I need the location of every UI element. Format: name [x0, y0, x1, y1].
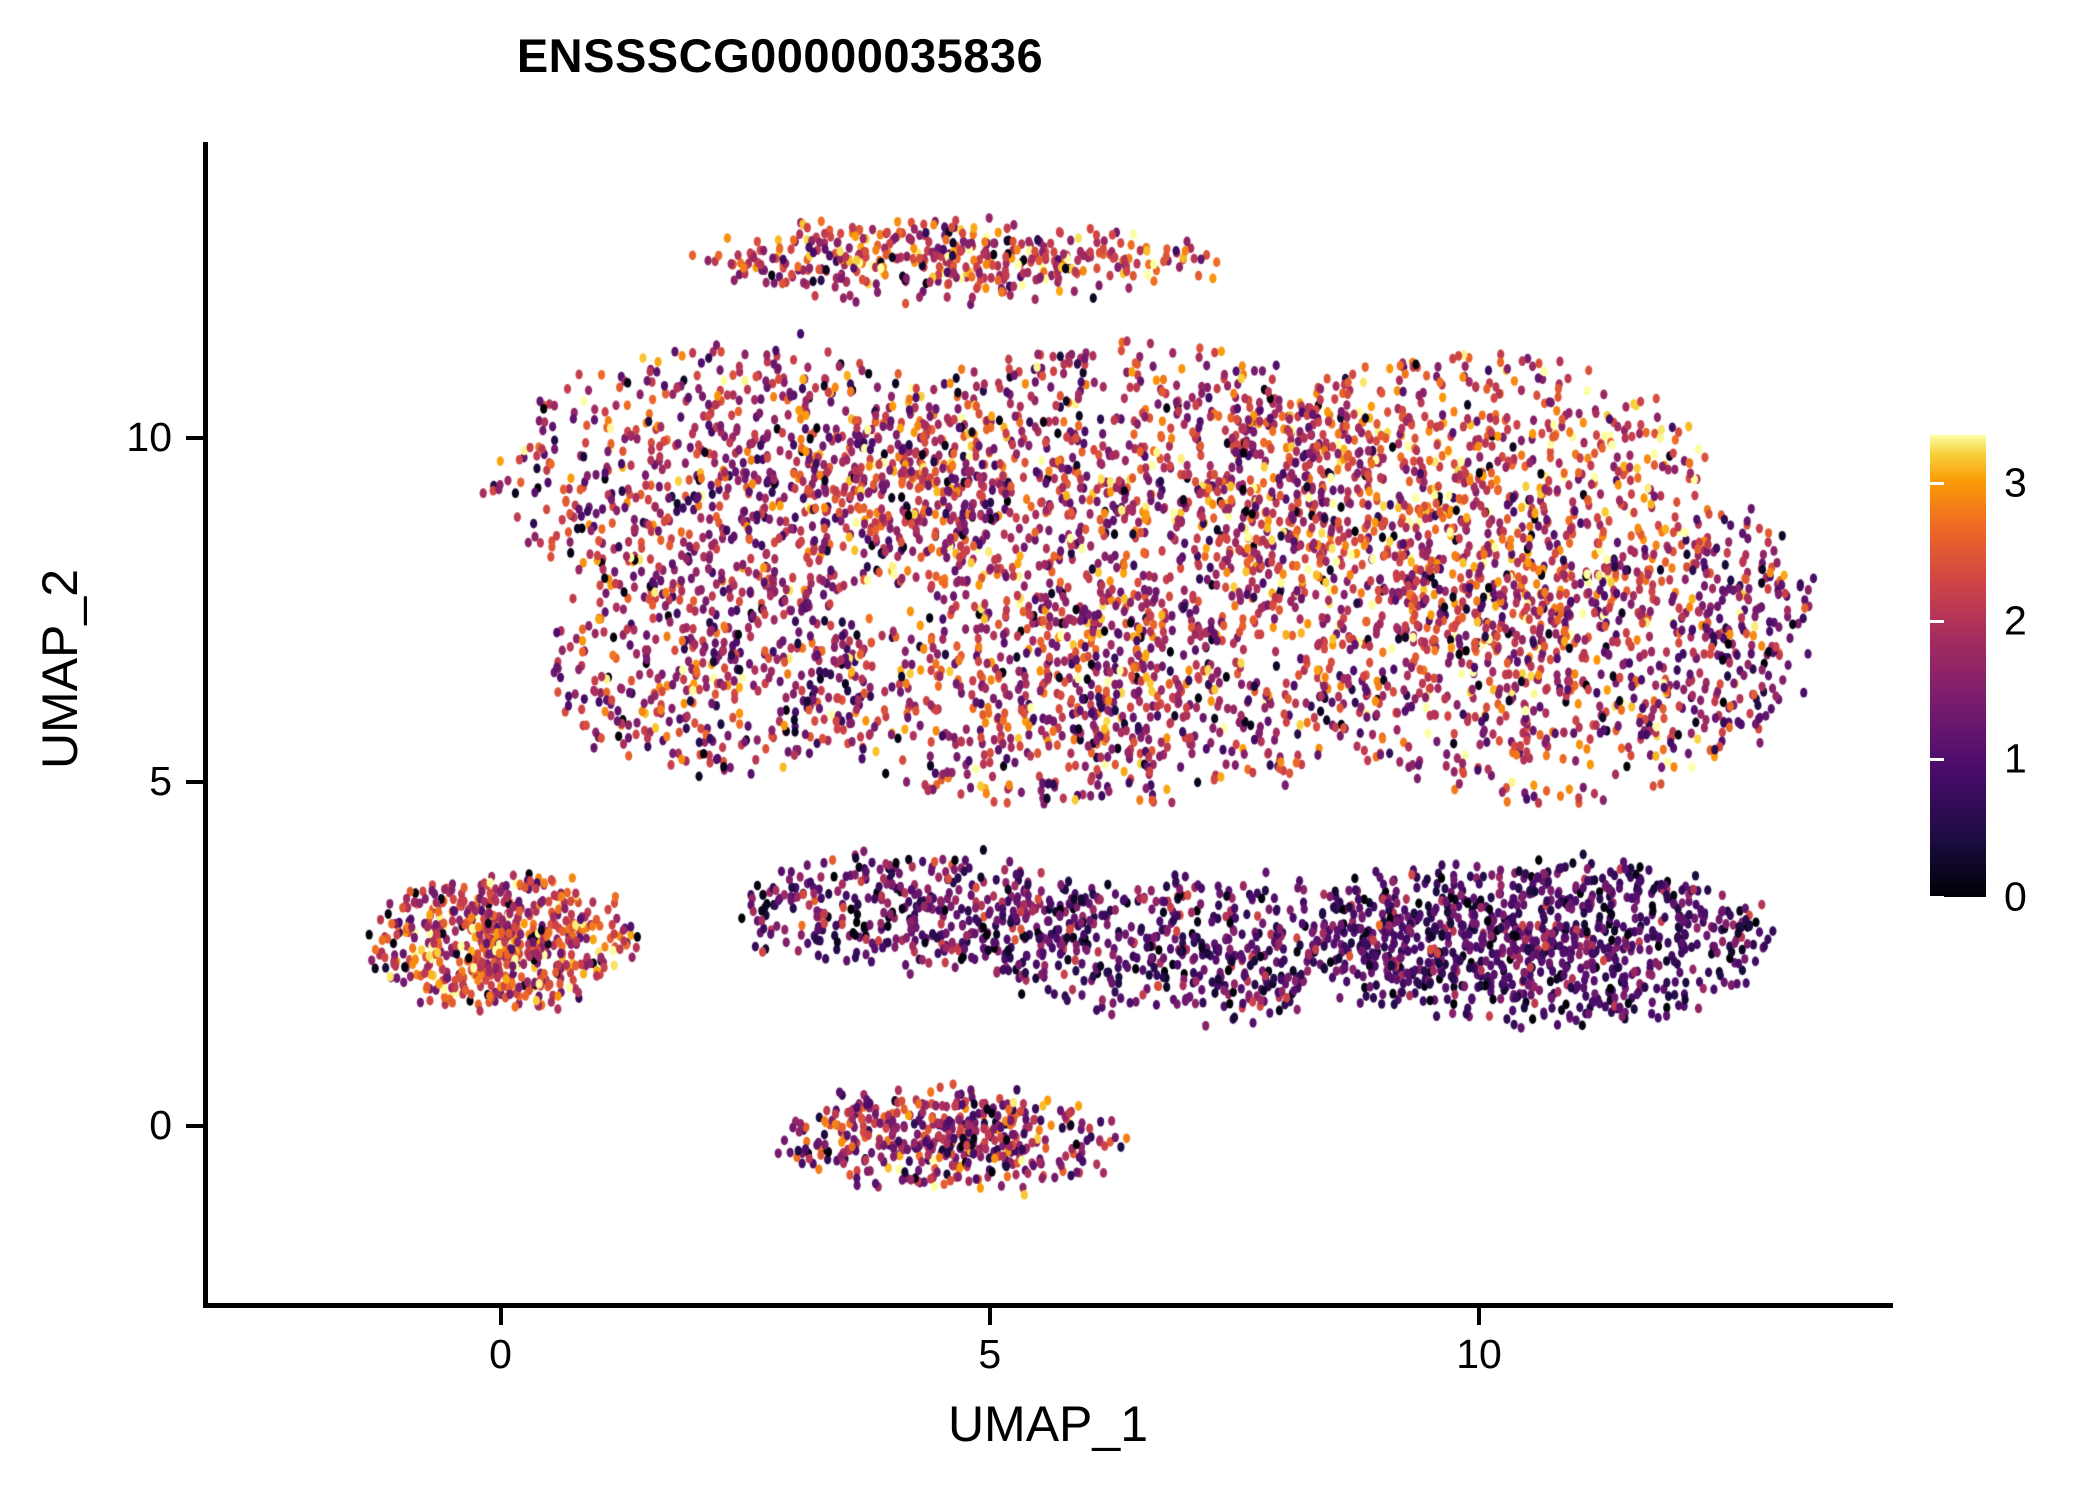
colorbar-legend: 0123	[1930, 430, 2090, 910]
colorbar-tick-mark	[1930, 896, 1944, 899]
chart-root: ENSSSCG00000035836 05100510 UMAP_2 UMAP_…	[0, 0, 2100, 1500]
colorbar-tick-mark	[1930, 620, 1944, 623]
colorbar-tick-label: 3	[2004, 463, 2027, 504]
colorbar-tick-mark	[2076, 620, 2090, 623]
x-axis-title: UMAP_1	[203, 1395, 1893, 1453]
x-axis-line	[203, 1303, 1893, 1308]
x-tick-mark	[988, 1308, 992, 1325]
colorbar-tick-mark	[2076, 896, 2090, 899]
colorbar-tick-label: 1	[2004, 739, 2027, 780]
x-tick-label: 0	[441, 1334, 561, 1375]
plot-panel	[207, 142, 1890, 1305]
colorbar-tick-mark	[1930, 482, 1944, 485]
x-tick-label: 5	[930, 1334, 1050, 1375]
x-tick-mark	[499, 1308, 503, 1325]
y-tick-label: 0	[0, 1105, 172, 1146]
scatter-plot-canvas	[207, 142, 1890, 1305]
y-tick-mark	[186, 1124, 203, 1128]
colorbar-tick-mark	[2076, 758, 2090, 761]
y-tick-label: 10	[0, 417, 172, 458]
colorbar-tick-label: 2	[2004, 601, 2027, 642]
y-tick-mark	[186, 436, 203, 440]
y-axis-line	[203, 142, 208, 1308]
y-tick-mark	[186, 780, 203, 784]
colorbar-gradient	[1930, 435, 1986, 897]
colorbar-tick-label: 0	[2004, 877, 2027, 918]
x-tick-mark	[1477, 1308, 1481, 1325]
y-axis-title: UMAP_2	[31, 459, 89, 879]
colorbar-tick-mark	[2076, 482, 2090, 485]
page-title: ENSSSCG00000035836	[0, 28, 1560, 83]
colorbar-tick-mark	[1930, 758, 1944, 761]
x-tick-label: 10	[1419, 1334, 1539, 1375]
